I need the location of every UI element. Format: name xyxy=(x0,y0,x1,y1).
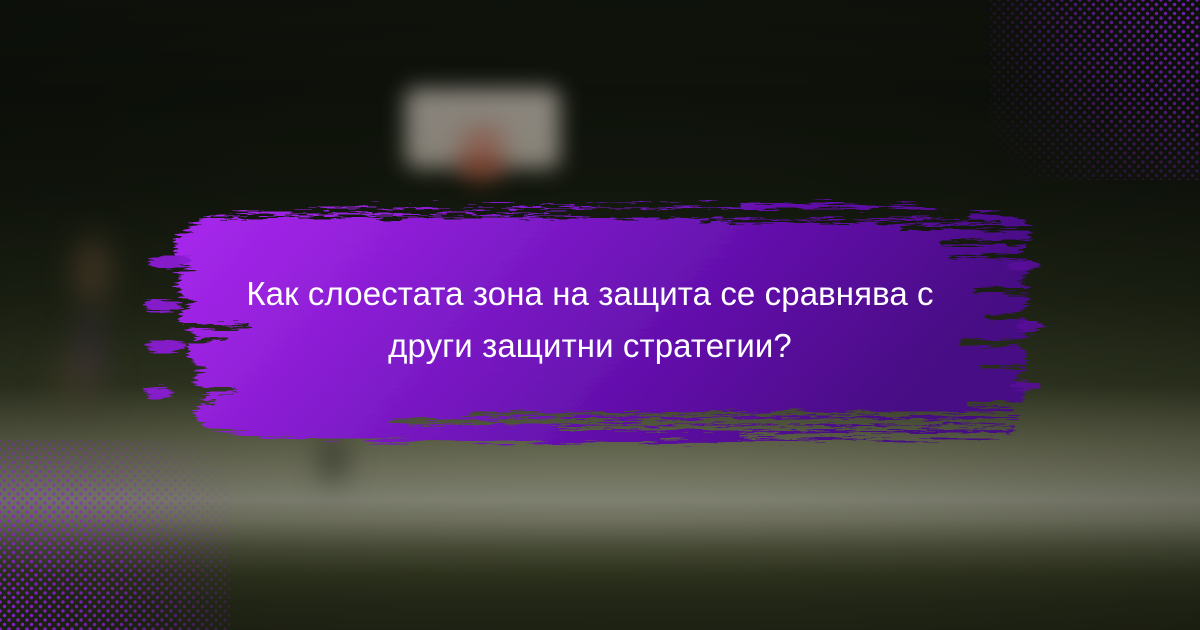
page-title: Как слоестата зона на защита се сравнява… xyxy=(150,196,1030,444)
headline-line-1: Как слоестата зона на защита се сравнява… xyxy=(246,268,933,320)
headline-line-2: други защитни стратегии? xyxy=(388,320,792,372)
basketball-rim-icon xyxy=(452,152,510,186)
halftone-dots-top-right xyxy=(990,0,1200,180)
blurred-player-figure-secondary xyxy=(298,430,368,530)
social-share-card: Как слоестата зона на защита се сравнява… xyxy=(0,0,1200,630)
blurred-player-figure xyxy=(30,232,150,442)
halftone-dots-bottom-left xyxy=(0,440,230,630)
